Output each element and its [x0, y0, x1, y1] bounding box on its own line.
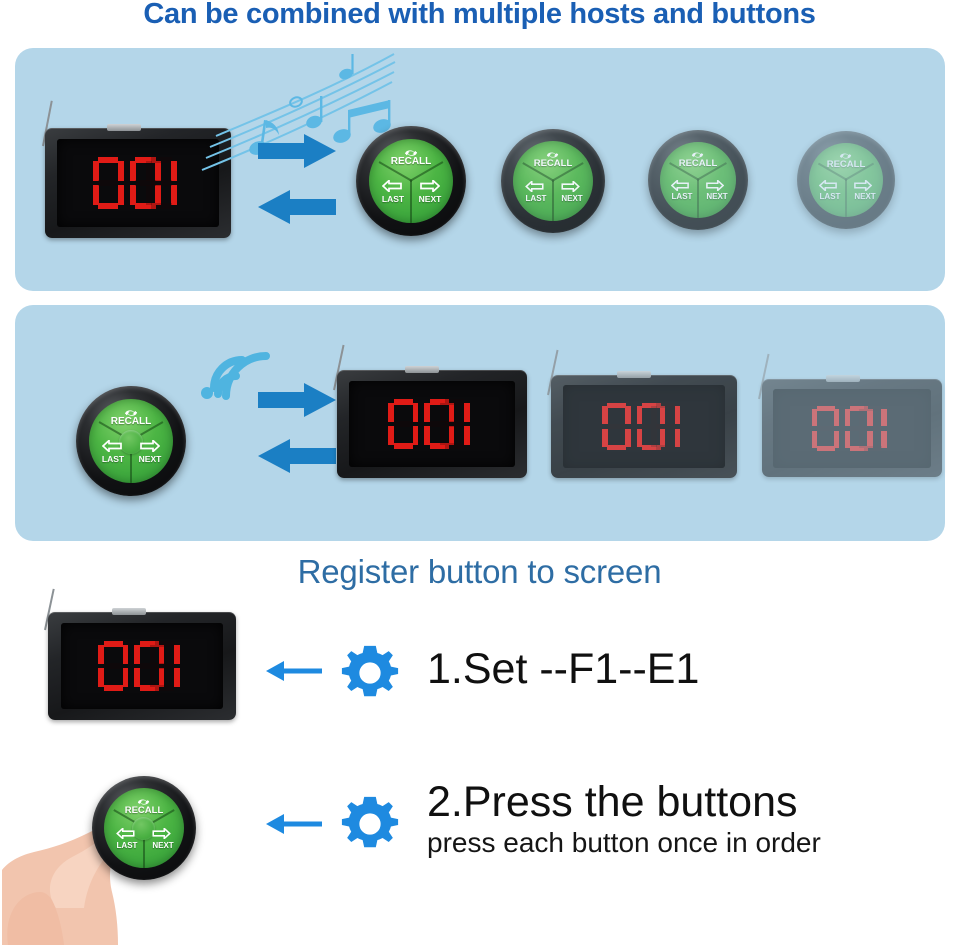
- device-clip: [112, 608, 146, 615]
- gear-icon: [339, 793, 401, 855]
- next-arrow-icon: [152, 828, 171, 839]
- display-digits: [93, 157, 184, 209]
- step-2-text: 2.Press the buttons: [427, 778, 798, 827]
- last-label: LAST: [109, 841, 145, 850]
- display-screen: [61, 623, 223, 709]
- last-arrow-icon: [671, 180, 689, 191]
- next-arrow-icon: [706, 180, 724, 191]
- last-arrow-icon: [116, 828, 135, 839]
- display-digits: [812, 406, 892, 452]
- next-arrow-icon: [561, 181, 580, 192]
- display-screen: [57, 139, 219, 227]
- last-arrow-icon: [102, 440, 122, 452]
- display-digits: [98, 641, 185, 691]
- call-button[interactable]: RECALL LAST NEXT: [501, 129, 605, 233]
- next-arrow-icon: [854, 180, 872, 191]
- arrow-right-signal: [258, 383, 336, 417]
- receiver-display: [551, 375, 737, 478]
- display-digits: [602, 403, 686, 451]
- section-heading: Register button to screen: [0, 553, 959, 591]
- next-arrow-icon: [420, 180, 440, 192]
- device-clip: [107, 124, 141, 131]
- arrow-right-signal: [258, 134, 336, 168]
- receiver-display: [337, 370, 527, 478]
- receiver-display: [48, 612, 236, 720]
- last-arrow-icon: [819, 180, 837, 191]
- next-label: NEXT: [554, 194, 590, 203]
- gear-icon: [339, 642, 401, 704]
- call-button[interactable]: RECALL LAST NEXT: [648, 130, 748, 230]
- next-label: NEXT: [132, 454, 168, 464]
- device-clip: [405, 366, 439, 373]
- step-1-text: 1.Set --F1--E1: [427, 645, 699, 694]
- last-arrow-icon: [525, 181, 544, 192]
- call-button[interactable]: RECALL LAST NEXT: [76, 386, 186, 496]
- call-button[interactable]: RECALL LAST NEXT: [92, 776, 196, 880]
- page-title: Can be combined with multiple hosts and …: [0, 0, 959, 31]
- recall-label: RECALL: [381, 156, 441, 167]
- call-button[interactable]: RECALL LAST NEXT: [797, 131, 895, 229]
- last-label: LAST: [95, 454, 131, 464]
- last-label: LAST: [518, 194, 554, 203]
- next-arrow-icon: [140, 440, 160, 452]
- left-arrow-icon: [264, 808, 324, 840]
- display-screen: [773, 389, 931, 468]
- last-label: LAST: [375, 194, 411, 204]
- recall-label: RECALL: [668, 158, 728, 169]
- next-label: NEXT: [847, 192, 883, 201]
- last-arrow-icon: [382, 180, 402, 192]
- device-clip: [826, 375, 860, 382]
- arrow-left-signal: [258, 190, 336, 224]
- recall-label: RECALL: [101, 416, 161, 427]
- receiver-display: [762, 379, 942, 477]
- display-screen: [349, 381, 515, 467]
- recall-label: RECALL: [816, 159, 876, 170]
- device-clip: [617, 371, 651, 378]
- next-label: NEXT: [412, 194, 448, 204]
- left-arrow-icon: [264, 655, 324, 687]
- step-2-subtext: press each button once in order: [427, 827, 821, 859]
- last-label: LAST: [812, 192, 848, 201]
- display-digits: [388, 399, 475, 449]
- recall-label: RECALL: [523, 158, 583, 169]
- display-screen: [563, 385, 725, 468]
- call-button[interactable]: RECALL LAST NEXT: [356, 126, 466, 236]
- next-label: NEXT: [699, 192, 735, 201]
- next-label: NEXT: [145, 841, 181, 850]
- last-label: LAST: [664, 192, 700, 201]
- arrow-left-signal: [258, 439, 336, 473]
- recall-label: RECALL: [114, 805, 174, 816]
